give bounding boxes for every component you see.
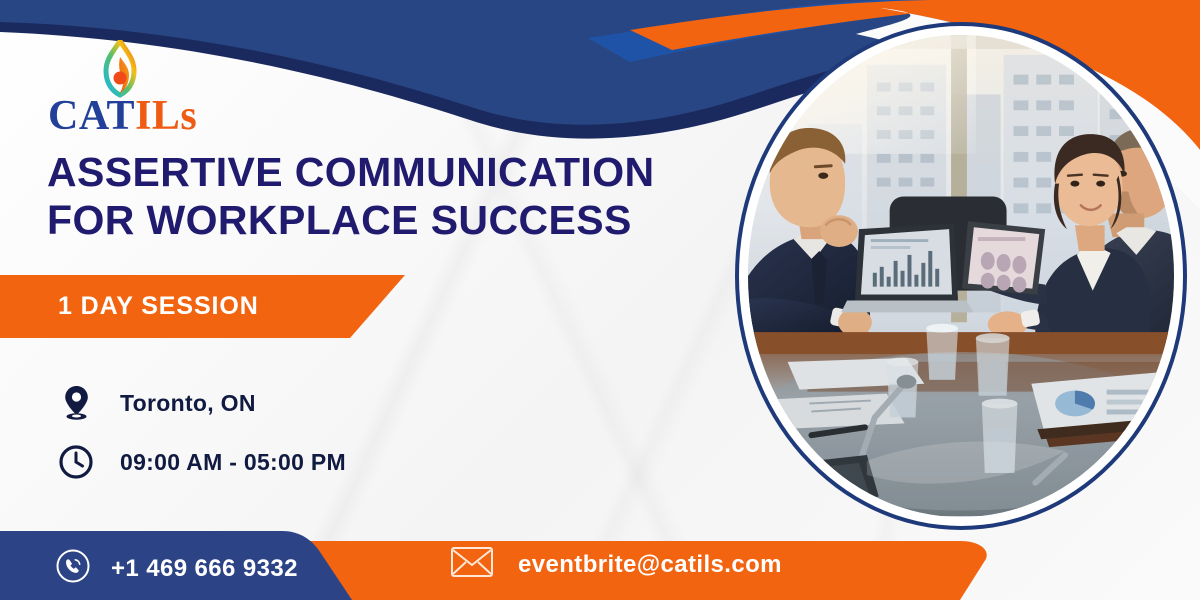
logo-text-accent: ILs xyxy=(135,93,197,139)
laptop-left xyxy=(841,223,974,312)
location-row: Toronto, ON xyxy=(58,385,256,421)
logo-text-primary: CAT xyxy=(48,93,135,139)
location-pin-icon xyxy=(58,385,94,421)
envelope-icon xyxy=(450,545,494,584)
time-row: 09:00 AM - 05:00 PM xyxy=(58,445,346,479)
logo-wordmark: CATILs xyxy=(48,92,197,140)
phone-icon xyxy=(55,548,91,589)
photo-ring xyxy=(735,22,1187,530)
business-meeting-photo xyxy=(748,35,1174,517)
title-line-1: ASSERTIVE COMMUNICATION xyxy=(47,149,655,195)
email-value: eventbrite@catils.com xyxy=(518,551,782,579)
phone-value: +1 469 666 9332 xyxy=(111,555,298,583)
title-line-2: FOR WORKPLACE SUCCESS xyxy=(47,196,707,244)
tablet-right xyxy=(962,221,1045,294)
location-value: Toronto, ON xyxy=(120,390,256,417)
time-value: 09:00 AM - 05:00 PM xyxy=(120,449,346,476)
event-banner: CATILs ASSERTIVE COMMUNICATION FOR WORKP… xyxy=(0,0,1200,600)
session-ribbon-label: 1 DAY SESSION xyxy=(58,292,259,321)
event-title: ASSERTIVE COMMUNICATION FOR WORKPLACE SU… xyxy=(47,148,707,244)
footer-email[interactable]: eventbrite@catils.com xyxy=(450,545,782,584)
clock-icon xyxy=(58,445,94,479)
footer-phone[interactable]: +1 469 666 9332 xyxy=(55,548,298,589)
flame-icon xyxy=(94,40,146,100)
session-ribbon: 1 DAY SESSION xyxy=(0,275,405,338)
